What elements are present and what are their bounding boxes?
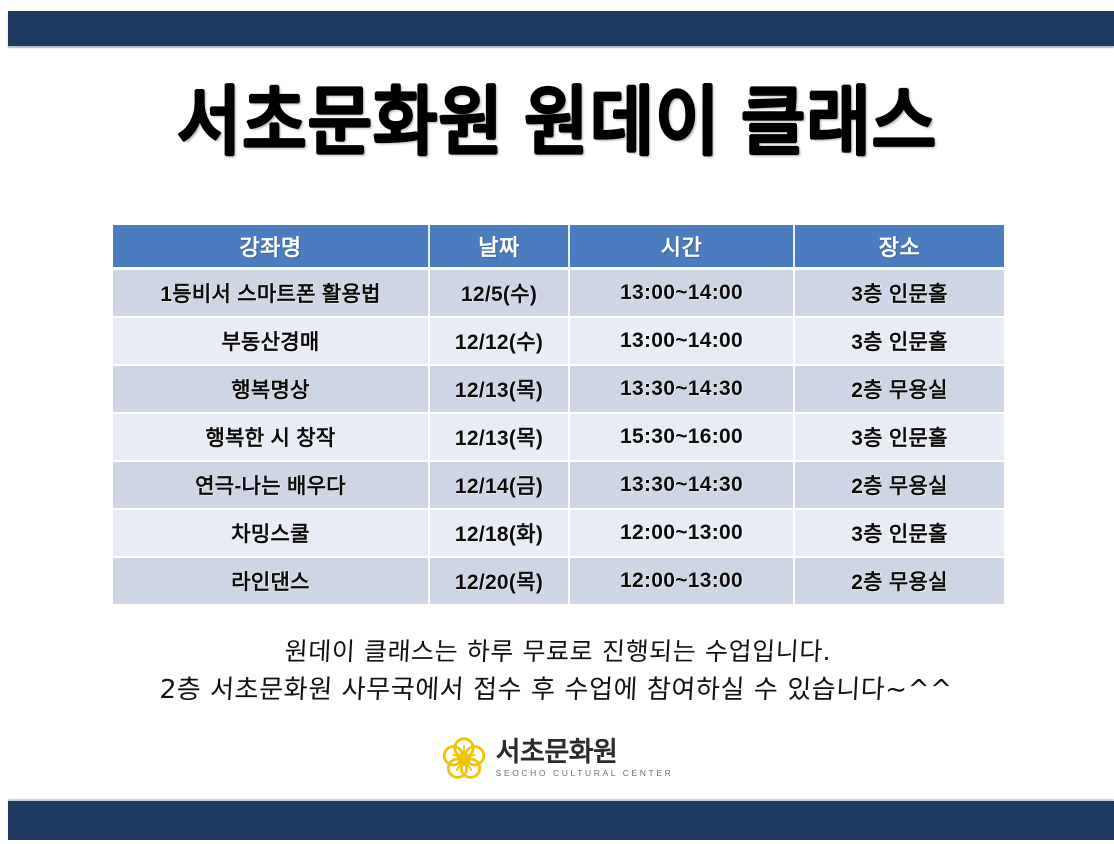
- cell-date: 12/5(수): [430, 270, 570, 318]
- table-row: 행복한 시 창작12/13(목)15:30~16:003층 인문홀: [113, 414, 1004, 462]
- table-header-row: 강좌명 날짜 시간 장소: [113, 225, 1004, 270]
- cell-place: 2층 무용실: [795, 558, 1004, 604]
- poster-canvas: 서초문화원 원데이 클래스 강좌명 날짜 시간 장소 1등비서 스마트폰 활용법…: [0, 0, 1114, 844]
- logo-name: 서초문화원: [496, 738, 618, 767]
- schedule-table: 강좌명 날짜 시간 장소 1등비서 스마트폰 활용법12/5(수)13:00~1…: [113, 225, 1004, 604]
- cell-date: 12/14(금): [430, 462, 570, 510]
- cell-time: 15:30~16:00: [570, 414, 795, 462]
- flower-icon: [441, 736, 487, 782]
- schedule-table-head: 강좌명 날짜 시간 장소: [113, 225, 1004, 270]
- note-line-1: 원데이 클래스는 하루 무료로 진행되는 수업입니다.: [0, 632, 1114, 671]
- cell-time: 13:00~14:00: [570, 318, 795, 366]
- table-row: 부동산경매12/12(수)13:00~14:003층 인문홀: [113, 318, 1004, 366]
- cell-time: 12:00~13:00: [570, 558, 795, 604]
- table-row: 차밍스쿨12/18(화)12:00~13:003층 인문홀: [113, 510, 1004, 558]
- cell-time: 12:00~13:00: [570, 510, 795, 558]
- cell-time: 13:30~14:30: [570, 366, 795, 414]
- table-row: 라인댄스12/20(목)12:00~13:002층 무용실: [113, 558, 1004, 604]
- cell-course: 차밍스쿨: [113, 510, 430, 558]
- logo-lockup: 서초문화원 SEOCHO CULTURAL CENTER: [0, 736, 1114, 782]
- column-header-place: 장소: [795, 225, 1004, 270]
- table-row: 행복명상12/13(목)13:30~14:302층 무용실: [113, 366, 1004, 414]
- cell-place: 3층 인문홀: [795, 414, 1004, 462]
- cell-course: 연극-나는 배우다: [113, 462, 430, 510]
- cell-course: 행복명상: [113, 366, 430, 414]
- cell-date: 12/13(목): [430, 414, 570, 462]
- bottom-navy-band: [8, 801, 1114, 840]
- column-header-course: 강좌명: [113, 225, 430, 270]
- cell-place: 3층 인문홀: [795, 510, 1004, 558]
- top-navy-band: [8, 11, 1114, 46]
- cell-course: 부동산경매: [113, 318, 430, 366]
- cell-course: 라인댄스: [113, 558, 430, 604]
- cell-place: 2층 무용실: [795, 366, 1004, 414]
- logo-text-block: 서초문화원 SEOCHO CULTURAL CENTER: [496, 738, 674, 780]
- cell-time: 13:30~14:30: [570, 462, 795, 510]
- logo-subtitle: SEOCHO CULTURAL CENTER: [496, 767, 674, 780]
- cell-date: 12/12(수): [430, 318, 570, 366]
- cell-place: 2층 무용실: [795, 462, 1004, 510]
- cell-date: 12/18(화): [430, 510, 570, 558]
- cell-place: 3층 인문홀: [795, 318, 1004, 366]
- schedule-table-wrapper: 강좌명 날짜 시간 장소 1등비서 스마트폰 활용법12/5(수)13:00~1…: [113, 225, 1004, 604]
- note-text: 원데이 클래스는 하루 무료로 진행되는 수업입니다. 2층 서초문화원 사무국…: [0, 632, 1114, 710]
- cell-time: 13:00~14:00: [570, 270, 795, 318]
- cell-place: 3층 인문홀: [795, 270, 1004, 318]
- column-header-date: 날짜: [430, 225, 570, 270]
- cell-date: 12/20(목): [430, 558, 570, 604]
- table-row: 연극-나는 배우다12/14(금)13:30~14:302층 무용실: [113, 462, 1004, 510]
- note-line-2: 2층 서초문화원 사무국에서 접수 후 수업에 참여하실 수 있습니다~^^: [0, 671, 1114, 710]
- page-title: 서초문화원 원데이 클래스: [0, 74, 1114, 169]
- cell-date: 12/13(목): [430, 366, 570, 414]
- schedule-table-body: 1등비서 스마트폰 활용법12/5(수)13:00~14:003층 인문홀부동산…: [113, 270, 1004, 604]
- table-row: 1등비서 스마트폰 활용법12/5(수)13:00~14:003층 인문홀: [113, 270, 1004, 318]
- cell-course: 1등비서 스마트폰 활용법: [113, 270, 430, 318]
- cell-course: 행복한 시 창작: [113, 414, 430, 462]
- column-header-time: 시간: [570, 225, 795, 270]
